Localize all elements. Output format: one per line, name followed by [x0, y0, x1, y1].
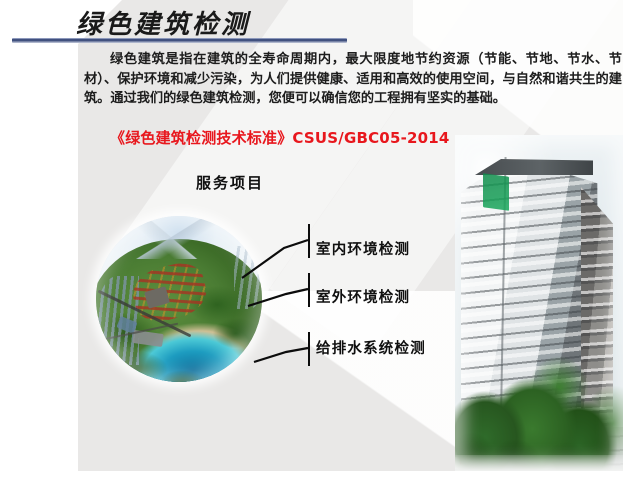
page-title: 绿色建筑检测 — [76, 4, 250, 41]
little-planet-image — [96, 216, 262, 382]
body-paragraph: 绿色建筑是指在建筑的全寿命周期内，最大限度地节约资源（节能、节地、节水、节材）、… — [84, 50, 622, 109]
connector-line-2 — [248, 289, 308, 306]
building-photo-base-fade — [455, 455, 623, 471]
connector-line-1 — [242, 240, 308, 278]
connector-tick-3 — [308, 332, 310, 366]
connector-tick-1 — [308, 224, 310, 258]
service-item-indoor-environment: 室内环境检测 — [316, 238, 410, 259]
building-photo — [455, 135, 623, 471]
service-item-outdoor-environment: 室外环境检测 — [316, 286, 410, 307]
planet-vignette — [96, 216, 262, 382]
slide-canvas: 绿色建筑检测 绿色建筑是指在建筑的全寿命周期内，最大限度地节约资源（节能、节地、… — [0, 0, 639, 481]
planet-photo — [96, 216, 262, 382]
service-item-water-supply-drainage: 给排水系统检测 — [316, 337, 426, 358]
connector-line-3 — [254, 348, 308, 362]
connector-tick-2 — [308, 273, 310, 307]
title-underline-rule — [12, 38, 347, 43]
building-green-sign — [483, 173, 509, 211]
standard-reference: 《绿色建筑检测技术标准》CSUS/GBC05-2014 — [110, 127, 450, 148]
services-heading: 服务项目 — [196, 172, 264, 193]
